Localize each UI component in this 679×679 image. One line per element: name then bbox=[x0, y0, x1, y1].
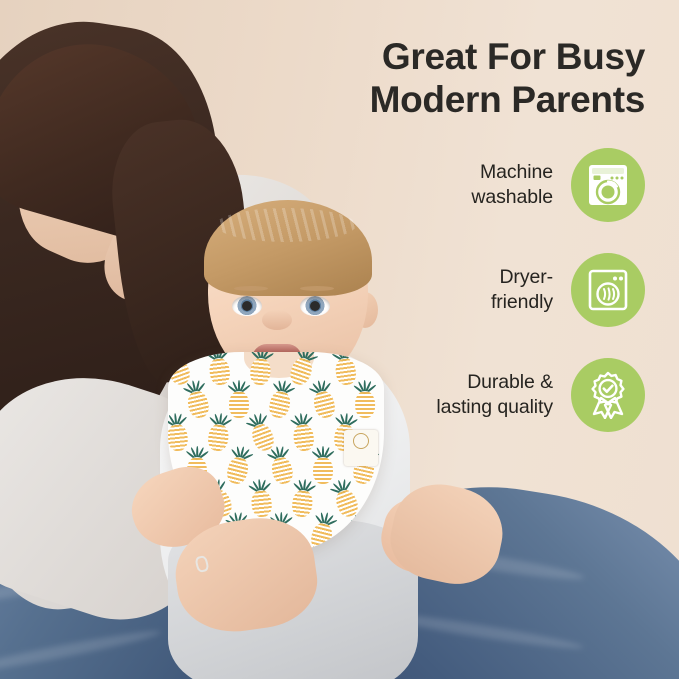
product-lifestyle-banner: Great For Busy Modern Parents Machine wa… bbox=[0, 0, 679, 679]
feature-machine-washable: Machine washable bbox=[305, 148, 645, 222]
headline-line-2: Modern Parents bbox=[315, 79, 645, 122]
feature-label: Durable & lasting quality bbox=[436, 370, 553, 421]
page-title: Great For Busy Modern Parents bbox=[315, 36, 645, 122]
feature-durable-quality: Durable & lasting quality bbox=[305, 358, 645, 432]
headline-line-1: Great For Busy bbox=[382, 36, 645, 77]
washing-machine-icon bbox=[571, 148, 645, 222]
feature-list: Machine washable Dry bbox=[305, 148, 645, 432]
award-badge-icon bbox=[571, 358, 645, 432]
feature-label: Machine washable bbox=[471, 160, 553, 211]
dryer-icon bbox=[571, 253, 645, 327]
baby-nose bbox=[262, 310, 292, 330]
feature-dryer-friendly: Dryer- friendly bbox=[305, 253, 645, 327]
feature-label: Dryer- friendly bbox=[491, 265, 553, 316]
marketing-copy-panel: Great For Busy Modern Parents Machine wa… bbox=[299, 0, 679, 679]
